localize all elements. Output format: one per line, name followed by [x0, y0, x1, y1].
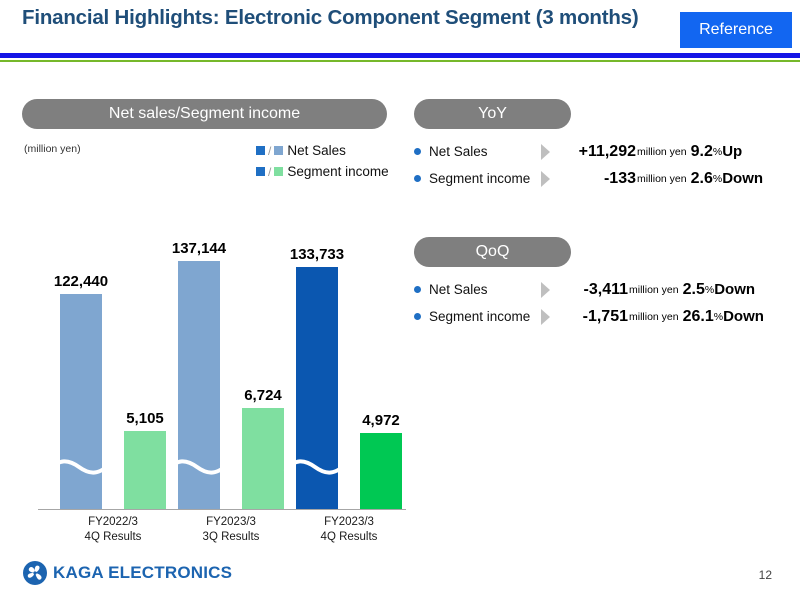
qoq-stats: Net Sales-3,411million yen2.5%DownSegmen… — [414, 276, 764, 330]
x-axis-label: FY2023/33Q Results — [171, 515, 291, 545]
stat-direction: Down — [714, 281, 755, 298]
stat-percent: 9.2 — [691, 143, 713, 161]
legend-label-segment-income: Segment income — [287, 164, 388, 179]
stat-percent: 2.5 — [683, 281, 705, 299]
arrow-right-icon — [541, 282, 550, 298]
x-axis-label: FY2023/34Q Results — [289, 515, 409, 545]
stat-row: Segment income-1,751million yen26.1%Down — [414, 303, 764, 330]
bar-net-sales — [296, 267, 338, 509]
stat-unit: million yen — [637, 146, 687, 158]
stat-row: Net Sales+11,292million yen9.2%Up — [414, 138, 763, 165]
header-divider-green — [0, 60, 800, 62]
bar-value-net-sales: 137,144 — [146, 240, 252, 257]
bullet-dot-icon — [414, 148, 421, 155]
stat-percent: 2.6 — [691, 170, 713, 188]
bar-value-net-sales: 122,440 — [28, 273, 134, 290]
stat-amount: -1,751 — [556, 308, 628, 326]
x-axis-label: FY2022/34Q Results — [53, 515, 173, 545]
bar-chart-plot: 122,4405,105137,1446,724133,7334,972 — [38, 236, 406, 510]
bar-segment-income — [124, 431, 166, 509]
yoy-heading: YoY — [414, 99, 571, 129]
bar-net-sales — [178, 261, 220, 509]
x-axis-label-line: 4Q Results — [53, 530, 173, 545]
yoy-stats: Net Sales+11,292million yen9.2%UpSegment… — [414, 138, 763, 192]
stat-percent-sign: % — [705, 284, 714, 296]
stat-percent: 26.1 — [683, 308, 714, 326]
bullet-dot-icon — [414, 286, 421, 293]
slide: Financial Highlights: Electronic Compone… — [0, 0, 800, 600]
legend-swatch-segment-income-icon — [274, 167, 283, 176]
bullet-dot-icon — [414, 175, 421, 182]
page-number: 12 — [759, 568, 772, 582]
stat-label: Net Sales — [429, 282, 541, 297]
stat-unit: million yen — [629, 284, 679, 296]
stat-direction: Down — [723, 308, 764, 325]
bullet-dot-icon — [414, 313, 421, 320]
bar-segment-income — [360, 433, 402, 509]
stat-label: Segment income — [429, 171, 541, 186]
stat-unit: million yen — [637, 173, 687, 185]
bar-value-net-sales: 133,733 — [264, 246, 370, 263]
stat-percent-sign: % — [713, 173, 722, 185]
legend-swatch-net-sales-icon — [274, 146, 283, 155]
stat-row: Segment income-133million yen2.6%Down — [414, 165, 763, 192]
x-axis-label-line: 3Q Results — [171, 530, 291, 545]
chart-legend: / Net Sales / Segment income — [256, 140, 389, 182]
stat-label: Net Sales — [429, 144, 541, 159]
reference-badge: Reference — [680, 12, 792, 48]
stat-direction: Up — [722, 143, 742, 160]
stat-amount: -133 — [556, 170, 636, 188]
stat-amount: -3,411 — [556, 281, 628, 299]
qoq-heading: QoQ — [414, 237, 571, 267]
legend-swatch-dark-icon — [256, 167, 265, 176]
company-logo: KAGA ELECTRONICS — [22, 560, 232, 586]
stat-row: Net Sales-3,411million yen2.5%Down — [414, 276, 764, 303]
x-axis-label-line: FY2023/3 — [171, 515, 291, 530]
bar-value-segment-income: 4,972 — [332, 412, 430, 429]
x-axis-label-line: 4Q Results — [289, 530, 409, 545]
x-axis-label-line: FY2022/3 — [53, 515, 173, 530]
legend-item-segment-income: / Segment income — [256, 161, 389, 182]
arrow-right-icon — [541, 171, 550, 187]
chart-axis-line — [38, 509, 406, 511]
stat-percent-sign: % — [713, 146, 722, 158]
chart-panel-heading: Net sales/Segment income — [22, 99, 387, 129]
stat-unit: million yen — [629, 311, 679, 323]
legend-separator: / — [268, 165, 271, 179]
chart-unit-note: (million yen) — [24, 143, 81, 155]
arrow-right-icon — [541, 144, 550, 160]
bar-segment-income — [242, 408, 284, 509]
stat-direction: Down — [722, 170, 763, 187]
stat-label: Segment income — [429, 309, 541, 324]
company-name: KAGA ELECTRONICS — [53, 563, 232, 583]
stat-percent-sign: % — [714, 311, 723, 323]
stat-amount: +11,292 — [556, 143, 636, 161]
legend-separator: / — [268, 144, 271, 158]
x-axis-label-line: FY2023/3 — [289, 515, 409, 530]
page-title: Financial Highlights: Electronic Compone… — [22, 6, 662, 30]
arrow-right-icon — [541, 309, 550, 325]
legend-label-net-sales: Net Sales — [287, 143, 346, 158]
legend-item-net-sales: / Net Sales — [256, 140, 389, 161]
kaga-mark-icon — [22, 560, 48, 586]
header-divider-blue — [0, 53, 800, 58]
chart-x-axis-labels: FY2022/34Q ResultsFY2023/33Q ResultsFY20… — [38, 515, 406, 551]
bar-net-sales — [60, 294, 102, 509]
legend-swatch-dark-icon — [256, 146, 265, 155]
